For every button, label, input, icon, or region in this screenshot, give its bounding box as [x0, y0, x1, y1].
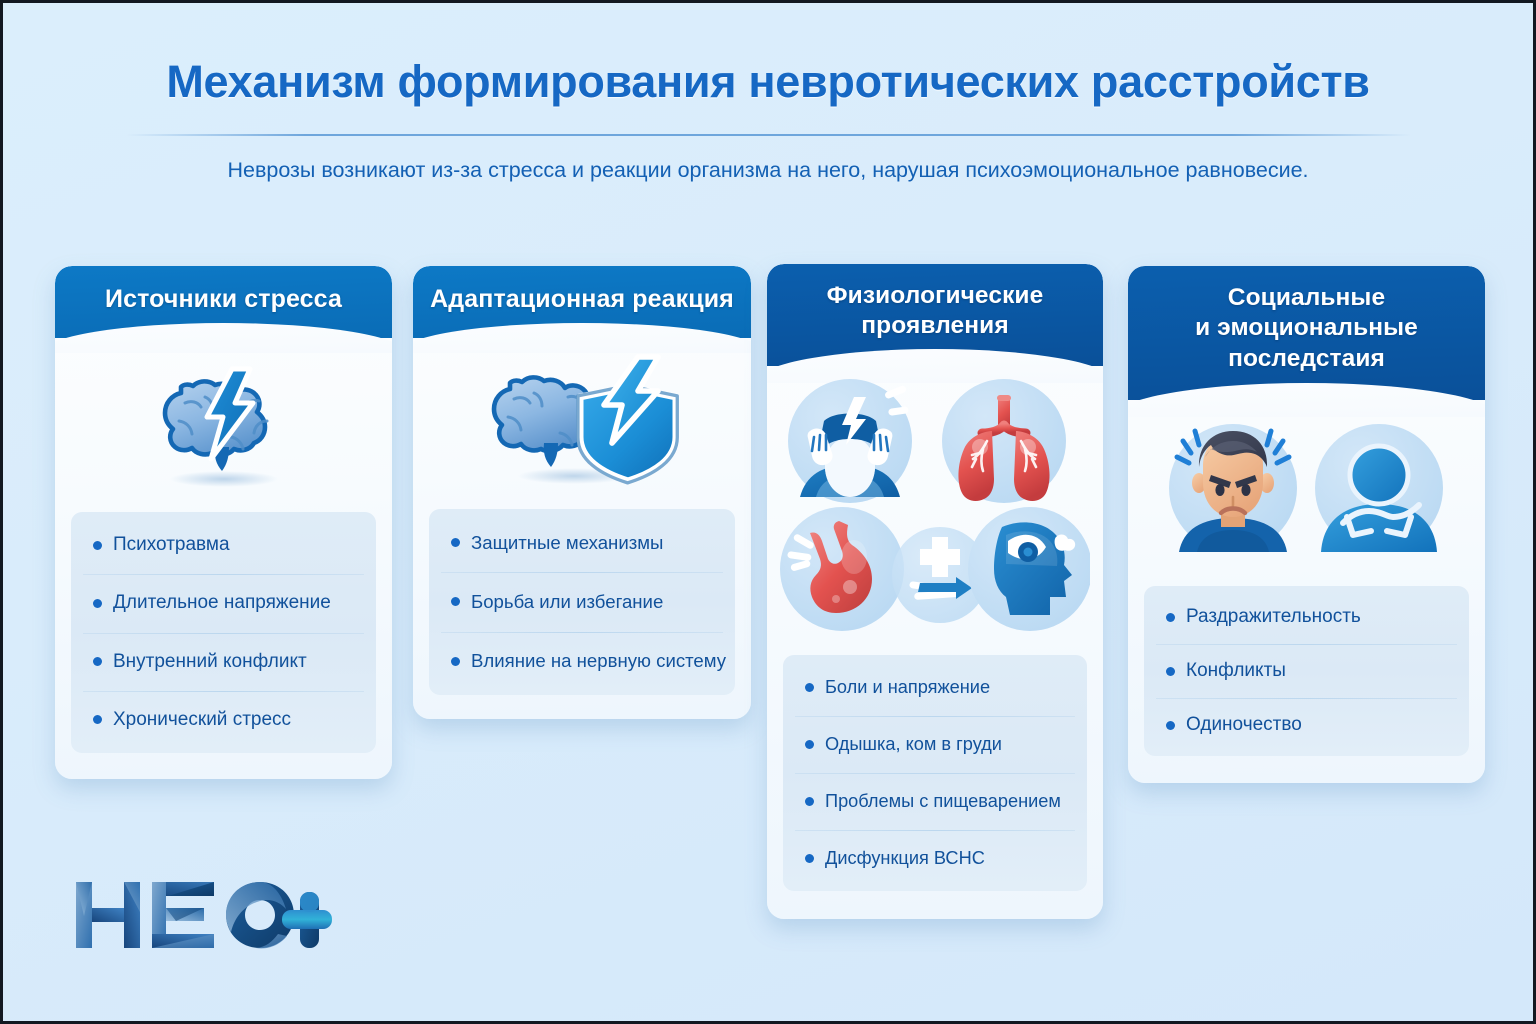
icon-stage-adaptive-reaction [413, 338, 751, 490]
list-item[interactable]: Влияние на нервную систему [429, 632, 735, 691]
card-adaptive-reaction[interactable]: Адаптационная реакция [413, 266, 751, 719]
logo-letter-n [76, 882, 140, 948]
list-panel-physiological-manifestations: Боли и напряжение Одышка, ком в груди Пр… [783, 655, 1087, 891]
list-item[interactable]: Хронический стресс [71, 691, 376, 749]
card-title-line-1: Физиологические [767, 281, 1103, 311]
bullet-icon [1166, 667, 1175, 676]
bullet-icon [805, 740, 814, 749]
frame-edge-top [0, 0, 1536, 3]
card-title-adaptive-reaction: Адаптационная реакция [430, 285, 734, 313]
bullet-icon [93, 715, 102, 724]
list-item-label: Проблемы с пищеварением [825, 791, 1061, 812]
card-title-sources-of-stress: Источники стресса [105, 285, 342, 313]
card-title-line-2: проявления [767, 311, 1103, 341]
card-header-social-emotional-consequences: Социальные и эмоциональные последстаия [1128, 266, 1485, 400]
list-panel-sources-of-stress: Психотравма Длительное напряжение Внутре… [71, 512, 376, 753]
list-item-label: Борьба или избегание [471, 591, 663, 613]
icon-stage-social-emotional-consequences [1128, 400, 1485, 568]
bullet-icon [93, 599, 102, 608]
card-title-line-2: и эмоциональные [1128, 313, 1485, 343]
list-item-label: Психотравма [113, 534, 230, 556]
list-panel-adaptive-reaction: Защитные механизмы Борьба или избегание … [429, 509, 735, 695]
card-physiological-manifestations[interactable]: Физиологические проявления [767, 264, 1103, 919]
card-header-sources-of-stress: Источники стресса [55, 266, 392, 338]
list-item[interactable]: Дисфункция ВСНС [783, 830, 1087, 887]
frame-edge-left [0, 0, 3, 1024]
list-panel-social-emotional-consequences: Раздражительность Конфликты Одиночество [1144, 586, 1469, 756]
card-grid: Источники стресса [55, 264, 1485, 944]
list-item-label: Хронический стресс [113, 709, 291, 731]
list-item[interactable]: Конфликты [1144, 644, 1469, 698]
list-item[interactable]: Проблемы с пищеварением [783, 773, 1087, 830]
bullet-icon [93, 657, 102, 666]
list-item[interactable]: Психотравма [71, 516, 376, 574]
list-item[interactable]: Длительное напряжение [71, 574, 376, 632]
brain-shield-lightning-icon [462, 339, 702, 489]
bullet-icon [805, 683, 814, 692]
list-item[interactable]: Внутренний конфликт [71, 633, 376, 691]
list-item[interactable]: Боли и напряжение [783, 659, 1087, 716]
list-item-label: Конфликты [1186, 660, 1286, 682]
list-item-label: Одиночество [1186, 714, 1302, 736]
list-sources-of-stress: Психотравма Длительное напряжение Внутре… [71, 516, 376, 749]
card-social-emotional-consequences[interactable]: Социальные и эмоциональные последстаия [1128, 266, 1485, 783]
list-adaptive-reaction: Защитные механизмы Борьба или избегание … [429, 513, 735, 691]
list-item[interactable]: Раздражительность [1144, 590, 1469, 644]
list-item[interactable]: Одышка, ком в груди [783, 716, 1087, 773]
bullet-icon [805, 797, 814, 806]
list-item-label: Защитные механизмы [471, 532, 663, 554]
bullet-icon [93, 541, 102, 550]
page-subtitle: Неврозы возникают из-за стресса и реакци… [0, 158, 1536, 183]
bullet-icon [451, 597, 460, 606]
list-item-label: Раздражительность [1186, 606, 1361, 628]
list-item-label: Дисфункция ВСНС [825, 848, 985, 869]
icon-stage-physiological-manifestations [767, 366, 1103, 638]
card-sources-of-stress[interactable]: Источники стресса [55, 266, 392, 779]
logo-letter-e [152, 882, 214, 948]
title-divider [126, 134, 1411, 136]
bullet-icon [805, 854, 814, 863]
card-title-line-3: последстаия [1128, 344, 1485, 374]
list-item-label: Боли и напряжение [825, 677, 990, 698]
page-title: Механизм формирования невротических расс… [0, 56, 1536, 108]
bullet-icon [1166, 613, 1175, 622]
bullet-icon [451, 538, 460, 547]
list-physiological-manifestations: Боли и напряжение Одышка, ком в груди Пр… [783, 659, 1087, 887]
bullet-icon [1166, 721, 1175, 730]
list-item[interactable]: Одиночество [1144, 698, 1469, 752]
brain-lightning-icon [119, 341, 329, 491]
icon-stage-sources-of-stress [55, 338, 392, 493]
brand-logo[interactable]: НЕО+ [72, 872, 332, 958]
bullet-icon [451, 657, 460, 666]
card-header-physiological-manifestations: Физиологические проявления [767, 264, 1103, 366]
list-item-label: Одышка, ком в груди [825, 734, 1002, 755]
list-social-emotional-consequences: Раздражительность Конфликты Одиночество [1144, 590, 1469, 752]
card-header-adaptive-reaction: Адаптационная реакция [413, 266, 751, 338]
page-header: Механизм формирования невротических расс… [0, 56, 1536, 183]
neo-plus-logo-icon [72, 872, 332, 958]
list-item[interactable]: Борьба или избегание [429, 572, 735, 631]
social-icon-cluster [1157, 413, 1457, 563]
list-item-label: Внутренний конфликт [113, 651, 307, 673]
list-item-label: Длительное напряжение [113, 592, 331, 614]
list-item-label: Влияние на нервную систему [471, 650, 726, 672]
physiological-icon-cluster [780, 375, 1090, 637]
list-item[interactable]: Защитные механизмы [429, 513, 735, 572]
card-title-line-1: Социальные [1128, 283, 1485, 313]
